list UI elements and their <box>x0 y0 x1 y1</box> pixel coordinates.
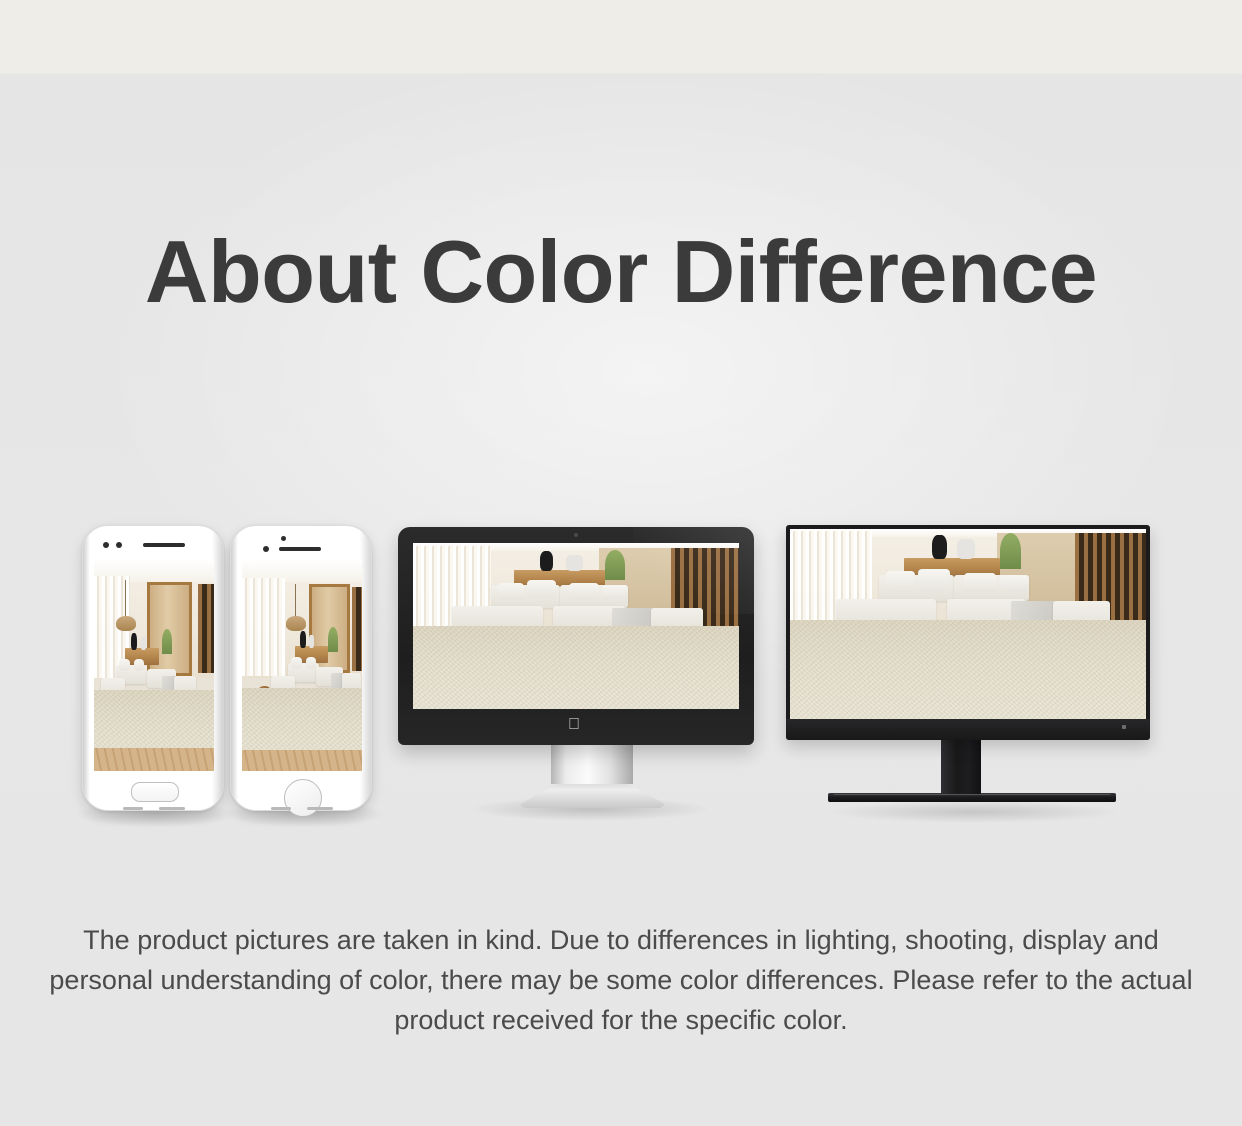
black-monitor-bezel <box>786 719 1150 740</box>
room-photo-black-monitor <box>790 529 1146 719</box>
light-ornament <box>957 539 975 560</box>
speaker-grille <box>159 807 185 810</box>
room-photo-phone-left <box>94 559 214 771</box>
color-difference-page: About Color Difference <box>0 0 1242 1126</box>
webcam-icon <box>574 533 578 537</box>
power-led-icon <box>1122 725 1126 729</box>
dark-vase <box>540 551 553 571</box>
apple-logo-icon:  <box>568 717 580 733</box>
home-button[interactable] <box>131 782 179 802</box>
device-showcase:  <box>0 505 1242 845</box>
front-camera-icon <box>281 536 286 541</box>
black-monitor-base <box>828 793 1116 802</box>
black-monitor-neck <box>941 736 981 794</box>
front-camera-icon <box>103 542 109 548</box>
smartphone-right-screen <box>242 559 362 771</box>
page-title: About Color Difference <box>0 222 1242 322</box>
room-photo-apple <box>413 543 739 709</box>
light-ornament <box>566 555 582 572</box>
proximity-sensor-icon <box>116 542 122 548</box>
color-difference-disclaimer: The product pictures are taken in kind. … <box>40 920 1202 1040</box>
smartphone-left <box>82 525 224 811</box>
earpiece-speaker <box>143 543 185 547</box>
charging-port <box>271 807 291 810</box>
black-monitor <box>786 525 1150 740</box>
home-button[interactable] <box>284 779 322 817</box>
potted-plant <box>605 550 625 580</box>
speaker-grille <box>307 807 333 810</box>
apple-display:  <box>398 527 754 745</box>
apple-display-base <box>520 780 665 808</box>
apple-display-screen <box>413 543 739 709</box>
dark-vase <box>932 535 946 560</box>
top-banner-strip <box>0 0 1242 73</box>
charging-port <box>123 807 143 810</box>
room-photo-phone-right <box>242 559 362 771</box>
black-monitor-shadow <box>830 801 1120 823</box>
black-monitor-screen <box>790 529 1146 719</box>
smartphone-right <box>230 525 372 811</box>
earpiece-speaker <box>279 547 321 551</box>
proximity-sensor-icon <box>263 546 269 552</box>
potted-plant <box>1000 533 1021 569</box>
smartphone-left-screen <box>94 559 214 771</box>
